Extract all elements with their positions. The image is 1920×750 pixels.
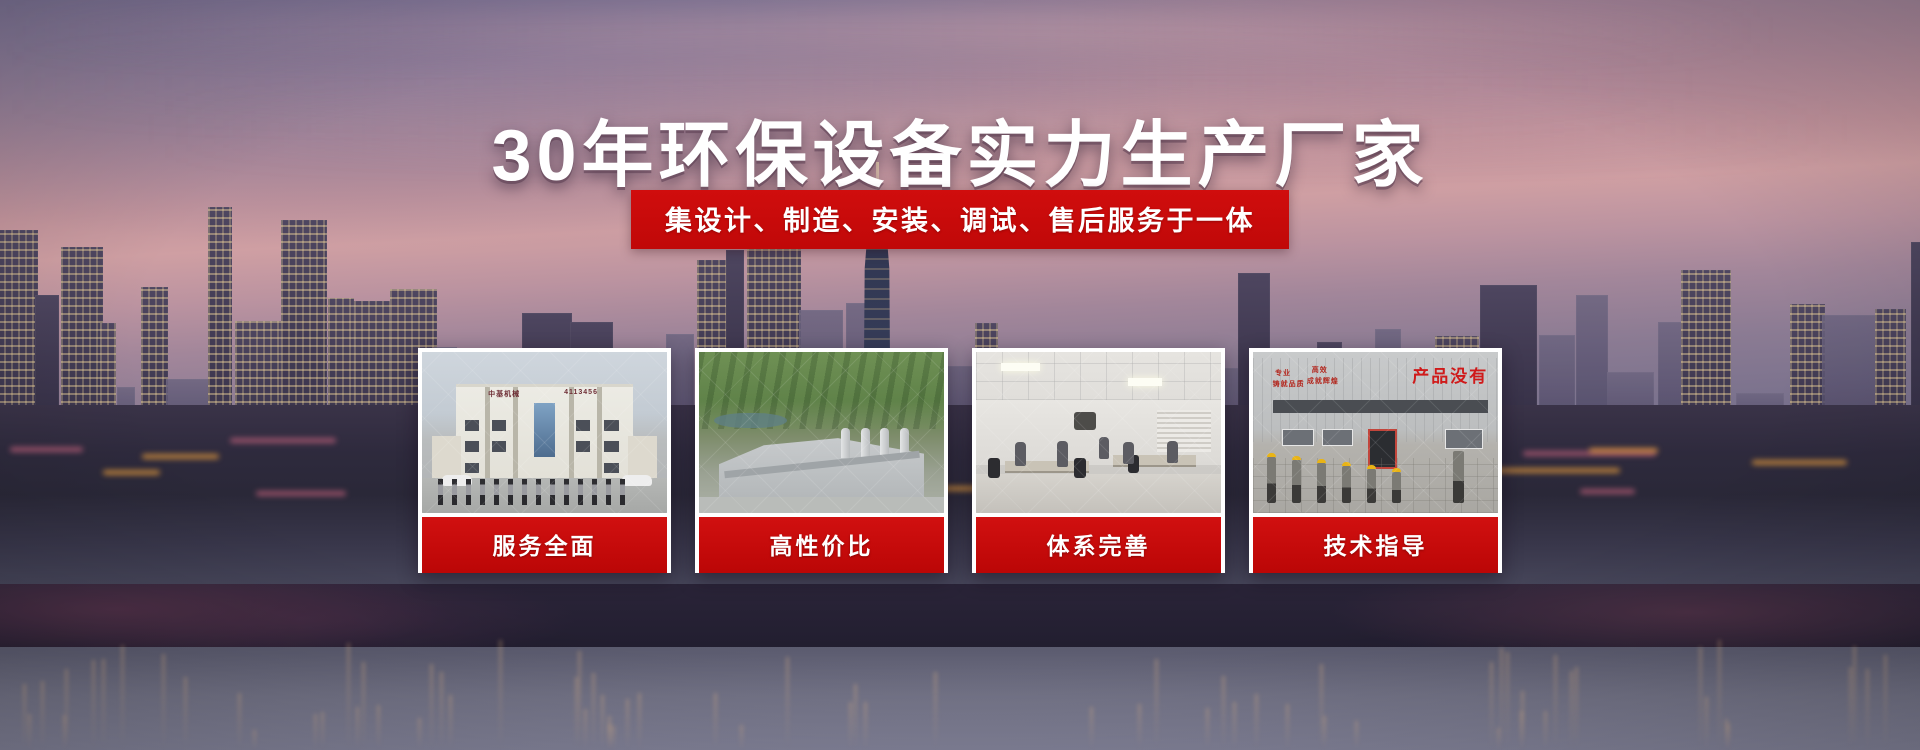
staff-figure <box>480 479 485 505</box>
staff-figure <box>466 479 471 505</box>
staff-figure <box>550 479 555 505</box>
feature-card[interactable]: 高性价比 <box>695 348 948 573</box>
staff-figure <box>620 479 625 505</box>
hard-hat-icon <box>1317 459 1326 463</box>
workshop-slogan-b: 高效 <box>1312 365 1328 375</box>
staff-figure <box>494 479 499 505</box>
worker-figure <box>1317 463 1326 503</box>
feature-card-label: 体系完善 <box>976 517 1221 573</box>
hard-hat-icon <box>1267 453 1276 457</box>
feature-card-list: 中基机械 4113456 服务全面 <box>418 348 1502 573</box>
feature-card-label: 高性价比 <box>699 517 944 573</box>
company-headquarters-building-photo: 中基机械 4113456 <box>422 352 667 513</box>
workshop-workers-training-photo: 产品没有 专业 铸就品质 高效 成就辉煌 <box>1253 352 1498 513</box>
building-phone-text: 4113456 <box>564 389 598 396</box>
feature-card[interactable]: 中基机械 4113456 服务全面 <box>418 348 671 573</box>
feature-card-label: 服务全面 <box>422 517 667 573</box>
subtitle-banner: 集设计、制造、安装、调试、售后服务于一体 <box>631 190 1289 249</box>
worker-figure <box>1292 460 1301 503</box>
page-title: 30年环保设备实力生产厂家 <box>0 96 1920 201</box>
staff-figure <box>578 479 583 505</box>
staff-figure <box>452 479 457 505</box>
feature-card[interactable]: 产品没有 专业 铸就品质 高效 成就辉煌 技术指导 <box>1249 348 1502 573</box>
staff-figure <box>522 479 527 505</box>
staff-figure <box>592 479 597 505</box>
staff-figure <box>536 479 541 505</box>
worker-figure <box>1342 466 1351 503</box>
aerial-factory-plant-photo <box>699 352 944 513</box>
workshop-slogan-a-sub: 铸就品质 <box>1273 379 1305 389</box>
hero-banner: 30年环保设备实力生产厂家 集设计、制造、安装、调试、售后服务于一体 <box>0 0 1920 750</box>
hard-hat-icon <box>1367 465 1376 469</box>
staff-figure <box>438 479 443 505</box>
worker-figure <box>1367 469 1376 503</box>
staff-figure <box>508 479 513 505</box>
feature-card[interactable]: 体系完善 <box>972 348 1225 573</box>
supervisor-figure <box>1453 451 1464 503</box>
hard-hat-icon <box>1342 462 1351 466</box>
subtitle-text: 集设计、制造、安装、调试、售后服务于一体 <box>665 199 1255 238</box>
workshop-slogan-main: 产品没有 <box>1412 362 1488 387</box>
hard-hat-icon <box>1292 456 1301 460</box>
staff-figure <box>564 479 569 505</box>
building-logo-text: 中基机械 <box>488 389 520 399</box>
workshop-slogan-a: 专业 <box>1275 368 1291 378</box>
workshop-slogan-b-sub: 成就辉煌 <box>1307 376 1339 386</box>
feature-card-label: 技术指导 <box>1253 517 1498 573</box>
hard-hat-icon <box>1392 468 1401 472</box>
worker-figure <box>1392 472 1401 503</box>
staff-figure <box>606 479 611 505</box>
worker-figure <box>1267 457 1276 503</box>
office-workspace-photo <box>976 352 1221 513</box>
